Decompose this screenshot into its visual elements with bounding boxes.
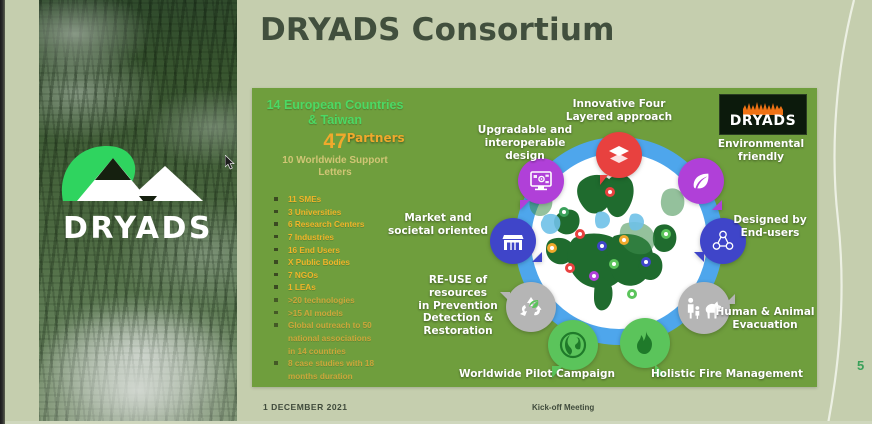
label-line-1: Human & Animal [715,306,814,318]
support-letters-stat: 10 Worldwide Support Letters [260,155,410,180]
list-item: months duration [266,371,416,383]
label-holistic-fire-management: Holistic Fire Management [638,368,816,381]
label-upgradable-interoperable: Upgradable and interoperable design [470,124,580,162]
node-worldwide-pilot-campaign[interactable] [548,320,598,370]
slide-canvas: DRYADS DRYADS Consortium 14 European Cou… [5,0,872,424]
list-item: 11 SMEs [266,194,416,206]
label-line-2: interoperable [485,137,566,149]
node-environmental-friendly[interactable] [678,158,724,204]
countries-line-2: & Taiwan [308,113,362,127]
label-line-2: societal oriented [388,225,488,237]
forest-photo-panel: DRYADS [39,0,237,424]
partners-count: 47 [323,130,346,153]
list-item: national associations [266,333,416,345]
list-item: >20 technologies [266,295,416,307]
page-title: DRYADS Consortium [260,12,615,48]
list-item: in 14 countries [266,346,416,358]
partners-stat: 47 Partners [260,131,410,152]
label-line-1: Market and [404,212,471,224]
mouse-cursor-icon [225,155,237,171]
label-line-1: Designed by [733,214,806,226]
four-layered-approach-diagram: Innovative Four Layered approach Environ… [422,96,817,387]
label-line-1: Upgradable and [478,124,572,136]
list-item: Global outreach to 50 [266,320,416,332]
dryads-logo-wordmark: DRYADS [53,214,223,244]
consortium-panel: 14 European Countries & Taiwan 47 Partne… [252,88,817,387]
footer-meeting-label: Kick-off Meeting [532,403,594,412]
label-line-2: Layered approach [566,111,672,123]
label-worldwide-pilot-campaign: Worldwide Pilot Campaign [442,368,632,381]
consortium-stats: 14 European Countries & Taiwan 47 Partne… [260,98,410,180]
list-item: 7 NGOs [266,270,416,282]
list-item: 8 case studies with 18 [266,358,416,370]
label-line-3: design [505,150,544,162]
label-environmental-friendly: Environmental friendly [706,138,816,164]
label-innovative-four-layered: Innovative Four Layered approach [554,98,684,124]
label-line-1: RE-USE of resources [429,274,487,299]
monitor-gear-icon [529,170,553,192]
label-line-3: Detection & [423,312,493,324]
label-line-2: in Prevention [418,300,497,312]
countries-line-1: 14 European Countries [267,98,404,112]
label-line-4: Restoration [423,325,492,337]
label-re-use-of-resources: RE-USE of resources in Prevention Detect… [400,274,516,338]
leaf-icon [690,170,712,192]
decorative-curve [824,0,872,424]
node-upgradable-interoperable[interactable] [518,158,564,204]
dryads-logo: DRYADS [53,138,223,244]
list-item: 16 End Users [266,245,416,257]
node-market-societal-oriented[interactable] [490,218,536,264]
label-human-animal-evacuation: Human & Animal Evacuation [712,306,818,332]
letters-line-2: Letters [318,167,351,178]
countries-stat: 14 European Countries & Taiwan [260,98,410,128]
recycle-leaf-icon [518,294,544,320]
node-holistic-fire-management[interactable] [620,318,670,368]
label-line-1: Environmental [718,138,804,150]
label-designed-by-end-users: Designed by End-users [722,214,818,240]
leaf-mountain-icon [53,138,223,218]
letters-line-1: 10 Worldwide Support [282,155,387,166]
label-line-1: Holistic Fire Management [651,368,803,380]
label-market-societal-oriented: Market and societal oriented [386,212,490,238]
list-item: X Public Bodies [266,257,416,269]
label-line-2: End-users [741,227,800,239]
list-item: >15 AI models [266,308,416,320]
node-innovative-four-layered[interactable] [596,132,642,178]
list-item: 1 LEAs [266,282,416,294]
label-line-1: Worldwide Pilot Campaign [459,368,615,380]
label-line-2: friendly [738,151,784,163]
flame-icon [633,330,657,356]
label-line-2: Evacuation [732,319,797,331]
layers-icon [607,143,631,167]
partners-label: Partners [347,131,405,146]
dryads-logo-mark [53,138,223,218]
slide-number: 5 [857,358,864,373]
globe-icon [559,331,587,359]
shop-icon [501,229,525,253]
footer-date: 1 DECEMBER 2021 [263,402,348,412]
label-line-1: Innovative Four [573,98,666,110]
